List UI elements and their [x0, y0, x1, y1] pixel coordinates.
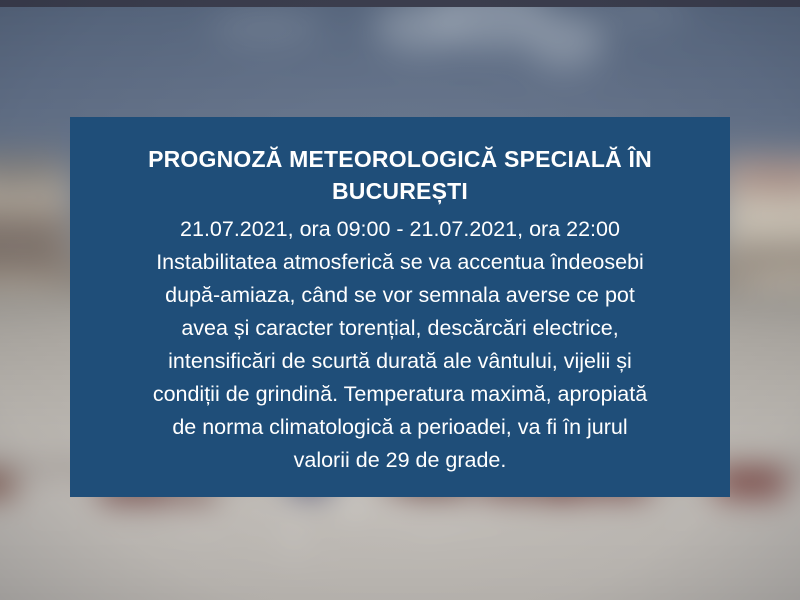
body-line: după-amiaza, când se vor semnala averse …	[104, 279, 696, 312]
weather-warning-panel: PROGNOZĂ METEOROLOGICĂ SPECIALĂ ÎN BUCUR…	[70, 117, 730, 497]
screenshot-root: PROGNOZĂ METEOROLOGICĂ SPECIALĂ ÎN BUCUR…	[0, 0, 800, 600]
body-line: valorii de 29 de grade.	[104, 444, 696, 477]
validity-interval: 21.07.2021, ora 09:00 - 21.07.2021, ora …	[104, 213, 696, 246]
body-line: avea și caracter torențial, descărcări e…	[104, 312, 696, 345]
body-line: Instabilitatea atmosferică se va accentu…	[104, 246, 696, 279]
body-line: de norma climatologică a perioadei, va f…	[104, 411, 696, 444]
panel-title-line-1: PROGNOZĂ METEOROLOGICĂ SPECIALĂ ÎN	[148, 146, 652, 172]
body-line: intensificări de scurtă durată ale vântu…	[104, 345, 696, 378]
panel-body: 21.07.2021, ora 09:00 - 21.07.2021, ora …	[104, 213, 696, 477]
panel-title: PROGNOZĂ METEOROLOGICĂ SPECIALĂ ÎN BUCUR…	[104, 143, 696, 207]
panel-title-line-2: BUCUREȘTI	[332, 178, 468, 204]
body-line: condiții de grindină. Temperatura maximă…	[104, 378, 696, 411]
